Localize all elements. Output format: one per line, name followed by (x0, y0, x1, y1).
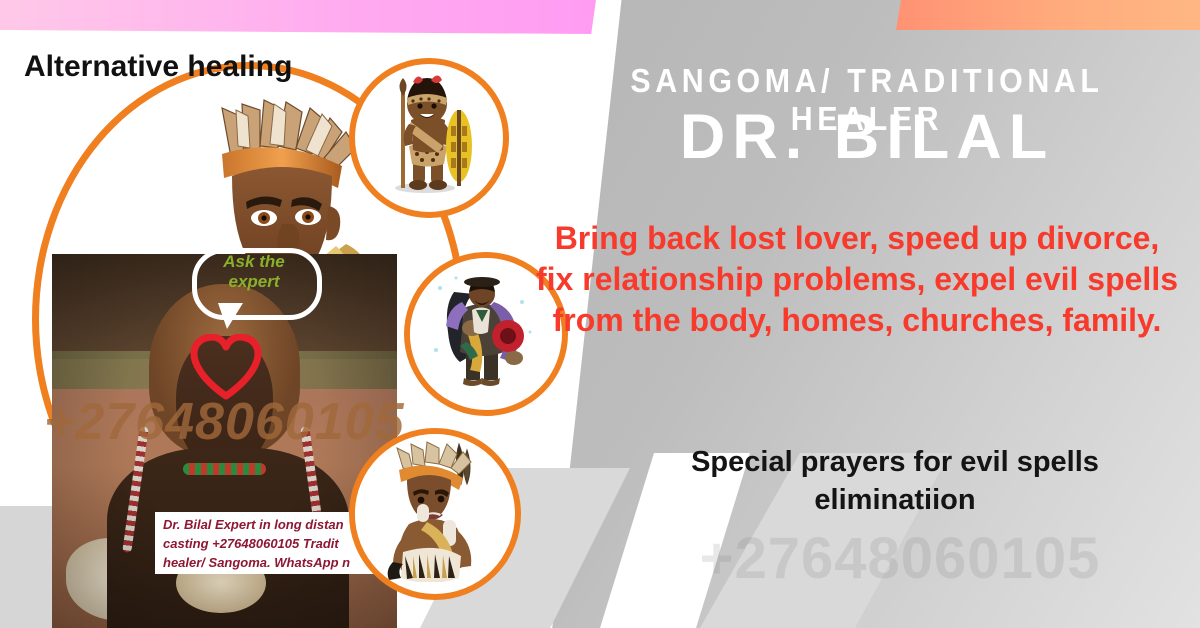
services-text: Bring back lost lover, speed up divorce,… (533, 218, 1181, 341)
circle-zulu-warrior (349, 58, 509, 218)
speech-bubble-text: Ask the expert (200, 252, 308, 291)
top-salmon-bar (896, 0, 1200, 30)
heart-icon (190, 334, 262, 400)
prayers-text: Special prayers for evil spells eliminat… (610, 444, 1180, 519)
watermark-phone: +27648060105 (620, 525, 1180, 592)
speech-bubble-tail (218, 303, 243, 329)
top-pink-bar (0, 0, 596, 34)
left-heading: Alternative healing (24, 50, 292, 84)
page-title: DR. BILAL (552, 104, 1182, 170)
poster-root: +27648060105 Ask the expert Dr. Bilal Ex… (0, 0, 1200, 628)
circle-crouching-sangoma (349, 428, 521, 600)
